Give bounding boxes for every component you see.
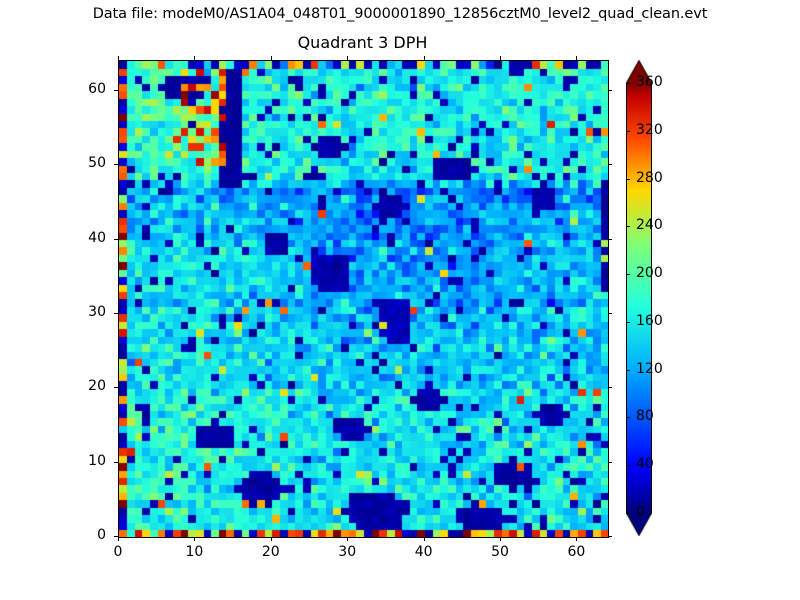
x-tick-mark (347, 537, 348, 541)
colorbar-tick-label: 240 (636, 217, 663, 233)
colorbar-tick-mark (626, 370, 630, 371)
page-title: Quadrant 3 DPH (118, 33, 607, 52)
y-tick-mark-right (608, 90, 612, 91)
x-tick-mark (118, 537, 119, 541)
x-tick-mark (500, 537, 501, 541)
y-tick-mark (114, 387, 118, 388)
x-tick-mark-top (347, 56, 348, 60)
colorbar-tick-mark (626, 179, 630, 180)
y-tick-mark-right (608, 462, 612, 463)
y-tick-label: 40 (66, 230, 106, 246)
x-tick-mark (424, 537, 425, 541)
x-tick-label: 40 (404, 544, 444, 560)
x-tick-label: 10 (174, 544, 214, 560)
y-tick-mark (114, 239, 118, 240)
y-tick-label: 50 (66, 155, 106, 171)
colorbar-tick-label: 320 (636, 122, 663, 138)
x-tick-label: 0 (98, 544, 138, 560)
y-tick-mark-right (608, 387, 612, 388)
colorbar-tick-label: 120 (636, 361, 663, 377)
detector-pixel-heatmap[interactable] (119, 61, 608, 537)
x-tick-label: 30 (327, 544, 367, 560)
x-tick-mark-top (424, 56, 425, 60)
x-tick-mark-top (500, 56, 501, 60)
y-tick-label: 20 (66, 378, 106, 394)
x-tick-mark (576, 537, 577, 541)
x-tick-label: 60 (556, 544, 596, 560)
colorbar-tick-mark (626, 83, 630, 84)
y-tick-label: 30 (66, 304, 106, 320)
y-tick-mark-right (608, 313, 612, 314)
x-tick-mark-top (576, 56, 577, 60)
y-tick-mark-right (608, 239, 612, 240)
colorbar-tick-mark (626, 513, 630, 514)
y-tick-label: 10 (66, 453, 106, 469)
y-tick-mark-right (608, 536, 612, 537)
x-tick-label: 20 (251, 544, 291, 560)
y-tick-label: 0 (66, 527, 106, 543)
colorbar-tick-mark (626, 322, 630, 323)
y-tick-mark (114, 164, 118, 165)
colorbar-tick-label: 360 (636, 74, 663, 90)
figure-canvas: Data file: modeM0/AS1A04_048T01_90000018… (0, 0, 800, 600)
colorbar-tick-mark (626, 417, 630, 418)
x-tick-mark (194, 537, 195, 541)
x-tick-mark-top (271, 56, 272, 60)
y-tick-label: 60 (66, 81, 106, 97)
colorbar-tick-label: 160 (636, 313, 663, 329)
colorbar-tick-mark (626, 465, 630, 466)
y-tick-mark (114, 313, 118, 314)
colorbar-tick-label: 280 (636, 170, 663, 186)
y-tick-mark (114, 90, 118, 91)
colorbar-tick-label: 200 (636, 265, 663, 281)
colorbar-tick-label: 0 (636, 504, 645, 520)
colorbar-tick-mark (626, 274, 630, 275)
data-file-title: Data file: modeM0/AS1A04_048T01_90000018… (0, 6, 800, 22)
x-tick-mark (271, 537, 272, 541)
colorbar-tick-mark (626, 131, 630, 132)
heatmap-axes[interactable] (118, 60, 609, 538)
colorbar-tick-mark (626, 226, 630, 227)
y-tick-mark (114, 462, 118, 463)
y-tick-mark-right (608, 164, 612, 165)
y-tick-mark (114, 536, 118, 537)
x-tick-label: 50 (480, 544, 520, 560)
colorbar-tick-label: 80 (636, 408, 654, 424)
x-tick-mark-top (118, 56, 119, 60)
colorbar-gradient[interactable] (626, 83, 652, 513)
colorbar-tick-label: 40 (636, 456, 654, 472)
x-tick-mark-top (194, 56, 195, 60)
